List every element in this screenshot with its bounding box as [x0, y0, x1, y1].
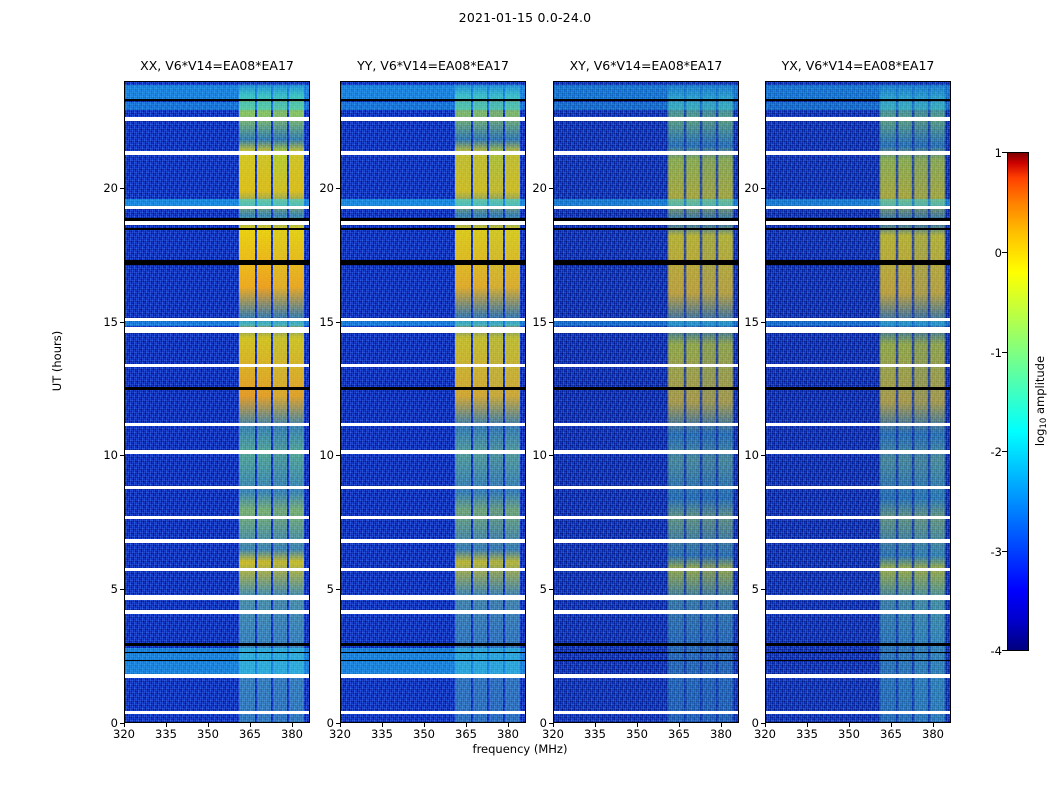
xtick-label-p2-350: 350 — [410, 727, 438, 741]
rfi-band-3 — [489, 82, 503, 722]
colorbar-tick--2: -2 — [980, 445, 1002, 459]
colorbar-tick--3: -3 — [980, 545, 1002, 559]
flagged-row-dark — [341, 652, 525, 653]
flagged-row — [341, 711, 525, 714]
bright-row — [125, 102, 309, 110]
colorbar-tick-0: 0 — [980, 246, 1002, 260]
colorbar-label-subscript: 10 — [1039, 418, 1049, 429]
ytick-mark — [761, 322, 765, 323]
bright-row — [766, 321, 950, 326]
rfi-band-4 — [289, 82, 305, 722]
bright-row — [125, 199, 309, 206]
rfi-band-1 — [455, 82, 471, 722]
flagged-row — [766, 117, 950, 121]
xtick-mark — [849, 723, 850, 727]
flagged-row-dark — [341, 228, 525, 230]
flagged-row — [554, 711, 738, 714]
xtick-label-p4-365: 365 — [877, 727, 905, 741]
bright-row — [766, 85, 950, 99]
bright-row — [341, 199, 525, 206]
colorbar-tick-mark — [1002, 650, 1007, 651]
heatmap-panel-xy[interactable] — [553, 81, 739, 723]
flagged-row — [554, 151, 738, 155]
flagged-row — [125, 674, 309, 678]
bright-row — [766, 102, 950, 110]
xtick-label-p2-365: 365 — [452, 727, 480, 741]
panel-title-xx: XX, V6*V14=EA08*EA17 — [124, 58, 310, 73]
bright-row — [554, 102, 738, 110]
xtick-label-p4-320: 320 — [751, 727, 779, 741]
ytick-mark — [761, 589, 765, 590]
flagged-row — [125, 423, 309, 426]
rfi-band-4 — [718, 82, 734, 722]
flagged-row — [554, 450, 738, 454]
xtick-mark — [933, 723, 934, 727]
flagged-row — [554, 117, 738, 121]
colorbar-tick-mark — [1002, 551, 1007, 552]
rfi-band-4 — [930, 82, 946, 722]
flagged-row — [766, 568, 950, 571]
ytick-mark — [549, 589, 553, 590]
xtick-mark — [807, 723, 808, 727]
flagged-row-dark — [554, 228, 738, 230]
bright-row — [341, 102, 525, 110]
xtick-mark — [250, 723, 251, 727]
flagged-row — [766, 151, 950, 155]
xtick-mark — [466, 723, 467, 727]
flagged-row — [341, 117, 525, 121]
ytick-label-p4-15: 15 — [737, 315, 759, 329]
ytick-label-p2-20: 20 — [312, 181, 334, 195]
panel-title-yy: YY, V6*V14=EA08*EA17 — [340, 58, 526, 73]
flagged-row — [766, 450, 950, 454]
ytick-mark — [549, 455, 553, 456]
bright-row — [554, 321, 738, 326]
flagged-row — [766, 674, 950, 678]
panel-title-xy: XY, V6*V14=EA08*EA17 — [553, 58, 739, 73]
flagged-row — [125, 117, 309, 121]
flagged-row-dark — [766, 99, 950, 101]
flagged-row-dark — [341, 643, 525, 646]
ytick-mark — [120, 188, 124, 189]
flagged-row-dark — [554, 99, 738, 101]
flagged-row — [554, 516, 738, 519]
flagged-row — [554, 221, 738, 225]
xtick-mark — [340, 723, 341, 727]
ytick-label-p2-15: 15 — [312, 315, 334, 329]
xtick-label-p2-335: 335 — [368, 727, 396, 741]
xtick-label-p3-335: 335 — [581, 727, 609, 741]
flagged-row — [766, 364, 950, 367]
flagged-row — [125, 450, 309, 454]
flagged-row — [341, 568, 525, 571]
ytick-mark — [549, 322, 553, 323]
flagged-row — [766, 516, 950, 519]
rfi-band-3 — [914, 82, 928, 722]
rfi-band-2 — [473, 82, 488, 722]
flagged-row — [125, 206, 309, 209]
xtick-mark — [424, 723, 425, 727]
flagged-row — [341, 151, 525, 155]
bright-row — [341, 321, 525, 326]
flagged-row-dark — [125, 652, 309, 653]
colorbar-tick-mark — [1002, 451, 1007, 452]
xtick-mark — [292, 723, 293, 727]
xtick-mark — [553, 723, 554, 727]
colorbar-label-prefix: log — [1033, 429, 1047, 447]
rfi-band-1 — [239, 82, 255, 722]
flagged-row — [125, 610, 309, 614]
figure-canvas: 2021-01-15 0.0-24.0 XX, V6*V14=EA08*EA17… — [0, 0, 1050, 800]
flagged-row — [341, 595, 525, 600]
flagged-row-dark — [341, 660, 525, 661]
flagged-row — [341, 486, 525, 489]
flagged-row-dark — [766, 643, 950, 646]
rfi-band-3 — [702, 82, 716, 722]
flagged-row-dark — [766, 660, 950, 661]
ytick-label-10: 10 — [96, 448, 118, 462]
heatmap-panel-yy[interactable] — [340, 81, 526, 723]
ytick-mark — [120, 589, 124, 590]
flagged-row — [554, 486, 738, 489]
colorbar-tick-mark — [1002, 152, 1007, 153]
flagged-row-dark — [766, 387, 950, 390]
flagged-row — [554, 595, 738, 600]
rfi-band-1 — [668, 82, 684, 722]
flagged-row — [125, 539, 309, 543]
flagged-row-dark — [554, 643, 738, 646]
xtick-label-p3-380: 380 — [707, 727, 735, 741]
flagged-row — [766, 327, 950, 333]
bright-row — [766, 199, 950, 206]
bright-row — [554, 85, 738, 99]
xtick-mark — [637, 723, 638, 727]
flagged-row-dark — [766, 260, 950, 265]
xtick-mark — [595, 723, 596, 727]
figure-suptitle: 2021-01-15 0.0-24.0 — [0, 10, 1050, 25]
flagged-row — [125, 327, 309, 333]
flagged-row — [125, 364, 309, 367]
flagged-row-dark — [554, 387, 738, 390]
colorbar-tick-mark — [1002, 252, 1007, 253]
xtick-label-380: 380 — [278, 727, 306, 741]
flagged-row — [554, 674, 738, 678]
flagged-row — [554, 206, 738, 209]
ytick-mark — [336, 455, 340, 456]
flagged-row-dark — [766, 228, 950, 230]
flagged-row-dark — [341, 387, 525, 390]
flagged-row — [341, 327, 525, 333]
flagged-row — [341, 516, 525, 519]
flagged-row — [341, 539, 525, 543]
bright-row — [125, 321, 309, 326]
xtick-mark — [508, 723, 509, 727]
xtick-label-p3-365: 365 — [665, 727, 693, 741]
flagged-row — [554, 539, 738, 543]
flagged-row-dark — [554, 260, 738, 265]
flagged-row-dark — [125, 99, 309, 101]
flagged-row-dark — [554, 660, 738, 661]
ytick-label-p3-20: 20 — [525, 181, 547, 195]
ytick-label-20: 20 — [96, 181, 118, 195]
colorbar-label: log10 amplitude — [1033, 356, 1049, 446]
heatmap-panel-yx[interactable] — [765, 81, 951, 723]
xtick-label-p4-380: 380 — [919, 727, 947, 741]
ytick-label-15: 15 — [96, 315, 118, 329]
flagged-row — [766, 595, 950, 600]
x-axis-label: frequency (MHz) — [0, 742, 1040, 756]
xtick-mark — [382, 723, 383, 727]
xtick-label-p3-320: 320 — [539, 727, 567, 741]
colorbar[interactable] — [1007, 152, 1029, 651]
rfi-band-2 — [898, 82, 913, 722]
flagged-row — [125, 568, 309, 571]
flagged-row — [554, 423, 738, 426]
xtick-label-350: 350 — [194, 727, 222, 741]
xtick-mark — [721, 723, 722, 727]
flagged-row — [125, 711, 309, 714]
bright-row — [125, 85, 309, 99]
bright-row — [341, 85, 525, 99]
ytick-label-p3-15: 15 — [525, 315, 547, 329]
colorbar-tick-mark — [1002, 352, 1007, 353]
ytick-mark — [336, 589, 340, 590]
ytick-mark — [549, 188, 553, 189]
flagged-row — [125, 486, 309, 489]
ytick-label-p4-20: 20 — [737, 181, 759, 195]
flagged-row — [766, 206, 950, 209]
flagged-row — [341, 674, 525, 678]
xtick-label-p2-380: 380 — [494, 727, 522, 741]
flagged-row — [554, 327, 738, 333]
flagged-row — [125, 595, 309, 600]
xtick-label-p4-335: 335 — [793, 727, 821, 741]
flagged-row-dark — [125, 260, 309, 265]
ytick-label-p2-5: 5 — [312, 582, 334, 596]
flagged-row-dark — [554, 652, 738, 653]
xtick-label-p3-350: 350 — [623, 727, 651, 741]
flagged-row — [125, 221, 309, 225]
heatmap-panel-xx[interactable] — [124, 81, 310, 723]
flagged-row — [766, 539, 950, 543]
xtick-label-335: 335 — [152, 727, 180, 741]
ytick-mark — [120, 322, 124, 323]
ytick-mark — [761, 455, 765, 456]
xtick-mark — [679, 723, 680, 727]
flagged-row — [341, 450, 525, 454]
ytick-label-5: 5 — [96, 582, 118, 596]
colorbar-tick--1: -1 — [980, 346, 1002, 360]
xtick-label-365: 365 — [236, 727, 264, 741]
flagged-row — [341, 423, 525, 426]
ytick-label-p4-5: 5 — [737, 582, 759, 596]
colorbar-tick-1: 1 — [980, 146, 1002, 160]
ytick-label-p3-5: 5 — [525, 582, 547, 596]
flagged-row — [766, 423, 950, 426]
flagged-row — [766, 486, 950, 489]
flagged-row-dark — [766, 652, 950, 653]
xtick-mark — [765, 723, 766, 727]
flagged-row — [125, 516, 309, 519]
ytick-label-p2-10: 10 — [312, 448, 334, 462]
colorbar-label-suffix: amplitude — [1033, 356, 1047, 418]
flagged-row — [554, 610, 738, 614]
ytick-mark — [761, 188, 765, 189]
y-axis-label: UT (hours) — [50, 331, 64, 391]
colorbar-tick--4: -4 — [980, 644, 1002, 658]
ytick-mark — [120, 455, 124, 456]
xtick-label-p4-350: 350 — [835, 727, 863, 741]
flagged-row — [554, 364, 738, 367]
bright-row — [554, 199, 738, 206]
flagged-row — [766, 610, 950, 614]
xtick-mark — [891, 723, 892, 727]
xtick-label-320: 320 — [110, 727, 138, 741]
flagged-row — [341, 610, 525, 614]
flagged-row — [341, 364, 525, 367]
panel-title-yx: YX, V6*V14=EA08*EA17 — [765, 58, 951, 73]
xtick-label-p2-320: 320 — [326, 727, 354, 741]
flagged-row — [766, 221, 950, 225]
rfi-band-1 — [880, 82, 896, 722]
xtick-mark — [124, 723, 125, 727]
flagged-row-dark — [125, 387, 309, 390]
flagged-row — [341, 206, 525, 209]
flagged-row — [341, 221, 525, 225]
rfi-band-3 — [273, 82, 287, 722]
flagged-row — [766, 711, 950, 714]
rfi-band-2 — [257, 82, 272, 722]
flagged-row-dark — [341, 260, 525, 265]
flagged-row — [554, 568, 738, 571]
ytick-label-p4-10: 10 — [737, 448, 759, 462]
xtick-mark — [166, 723, 167, 727]
flagged-row-dark — [341, 99, 525, 101]
rfi-band-2 — [686, 82, 701, 722]
xtick-mark — [208, 723, 209, 727]
ytick-mark — [336, 188, 340, 189]
rfi-band-4 — [505, 82, 521, 722]
flagged-row-dark — [125, 643, 309, 646]
flagged-row-dark — [125, 660, 309, 661]
ytick-label-p3-10: 10 — [525, 448, 547, 462]
flagged-row — [125, 151, 309, 155]
flagged-row-dark — [125, 228, 309, 230]
ytick-mark — [336, 322, 340, 323]
